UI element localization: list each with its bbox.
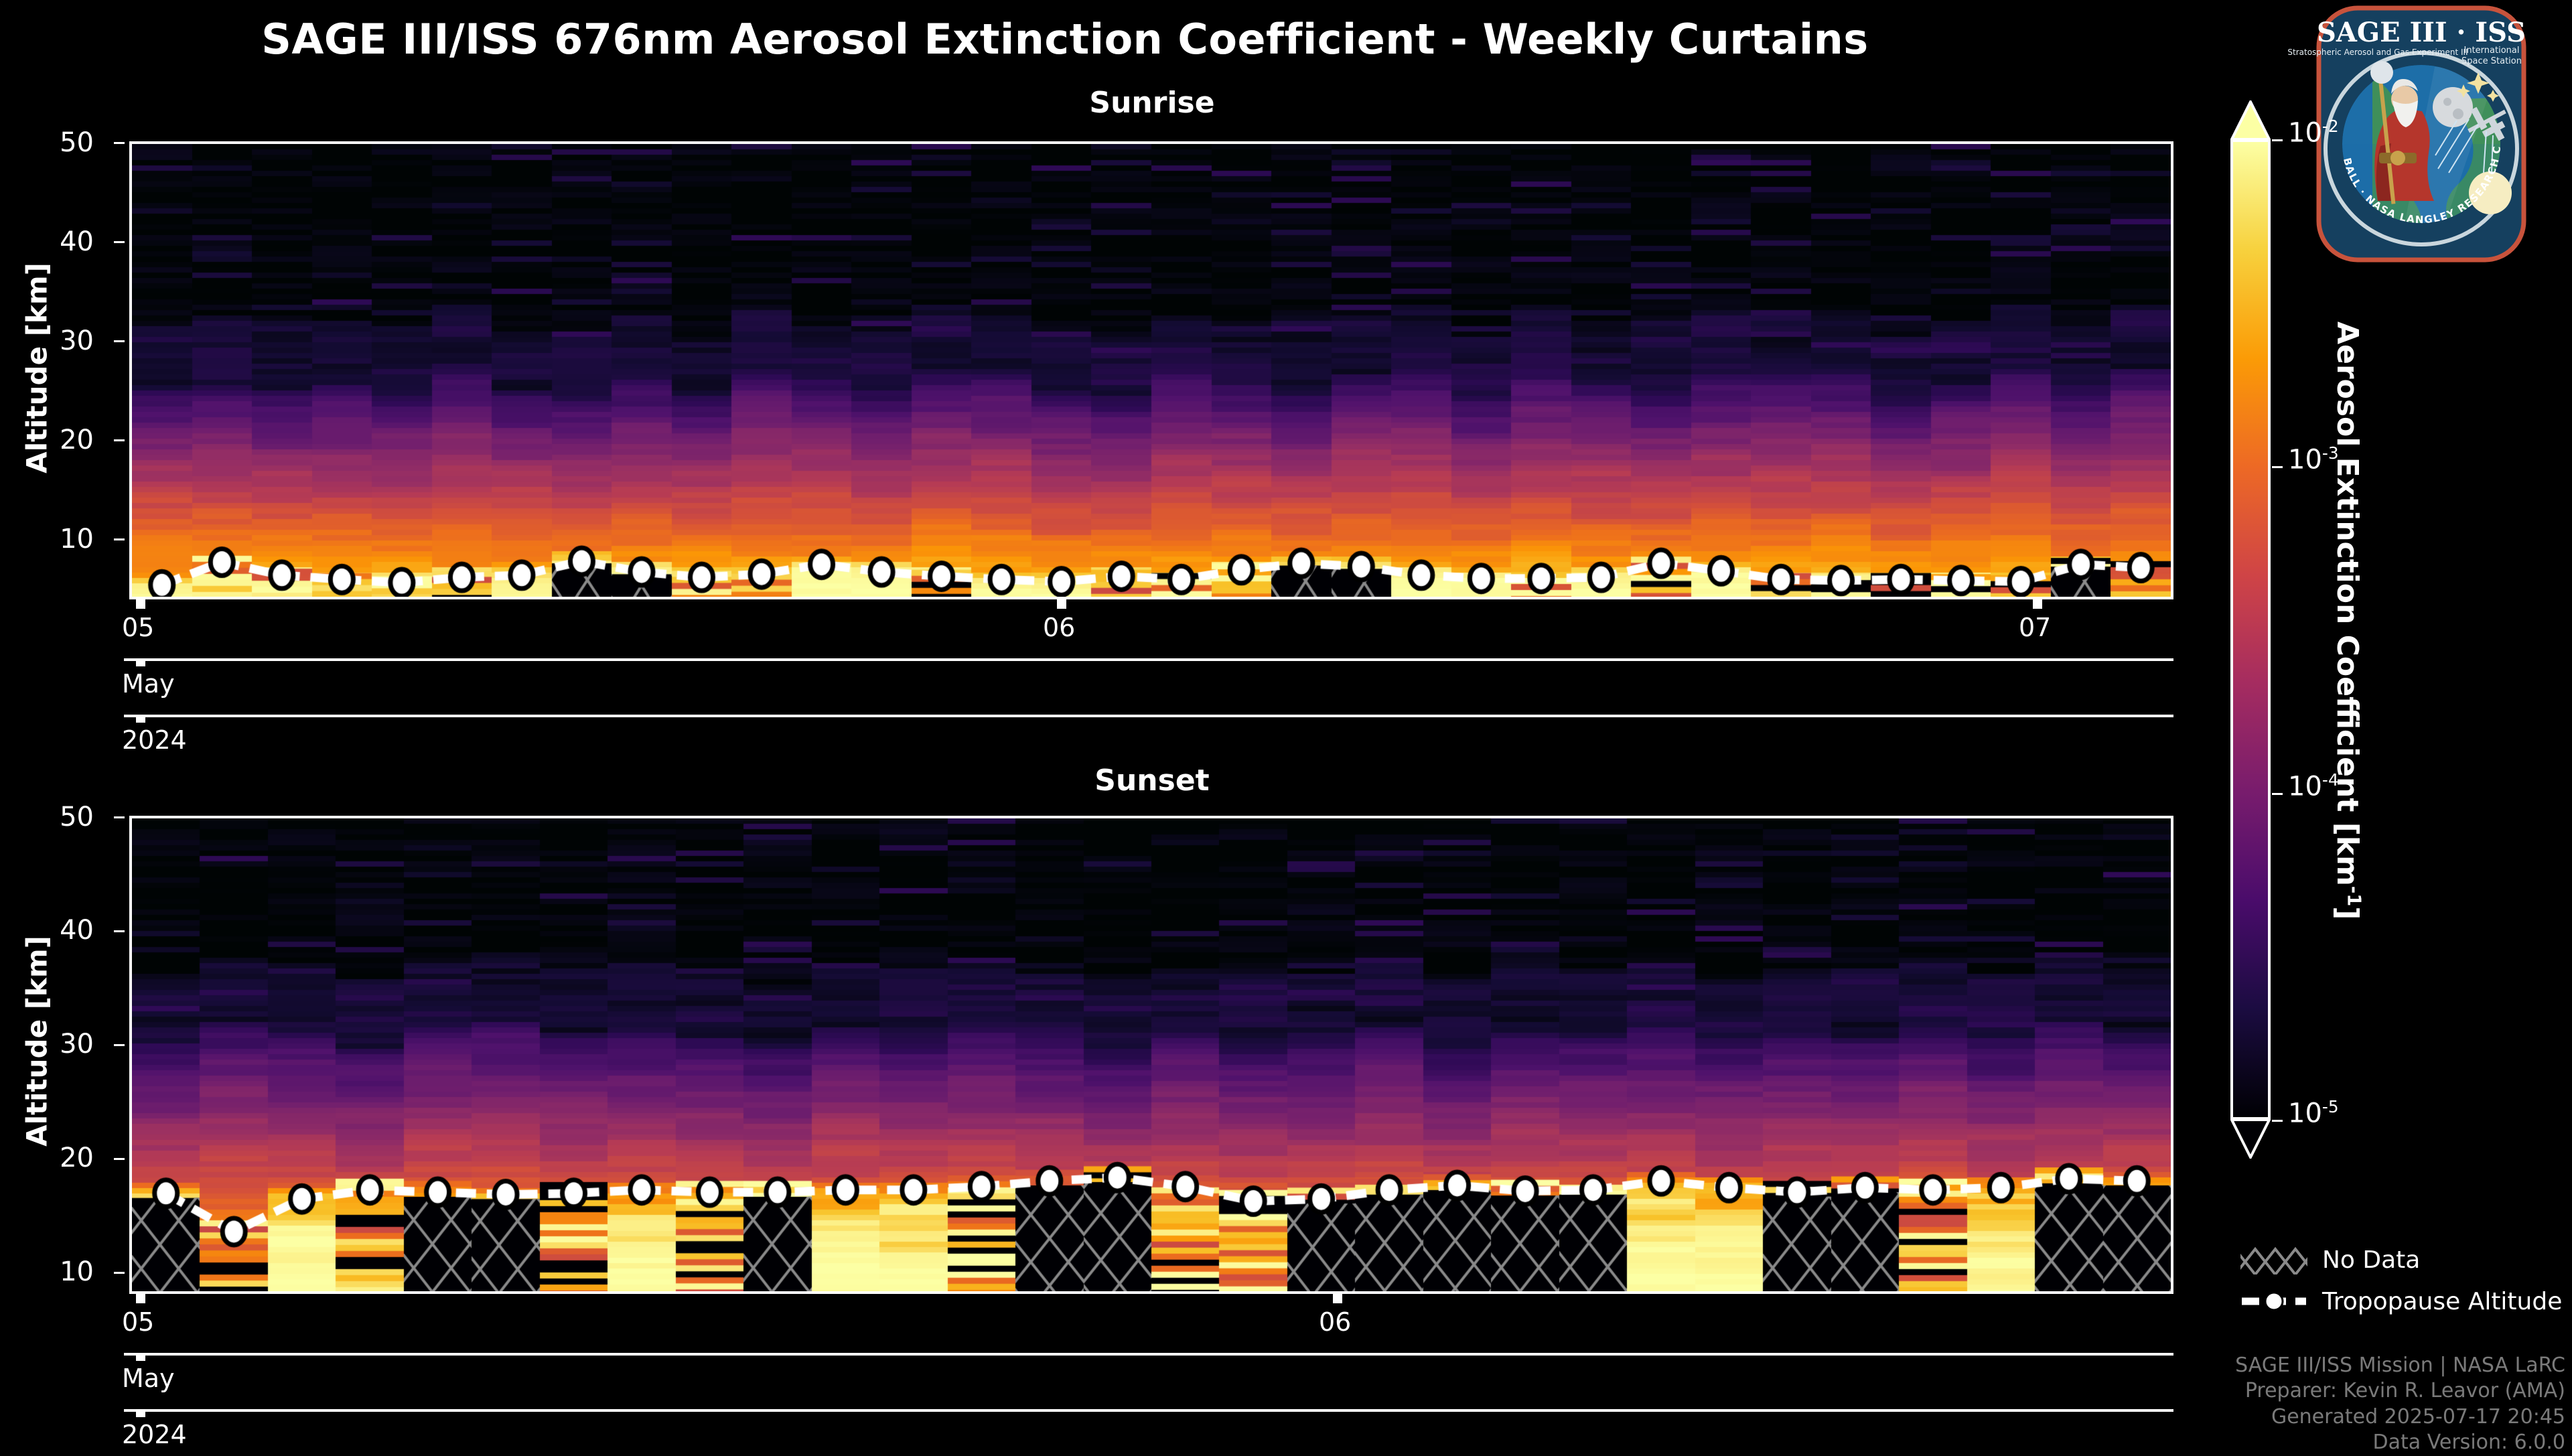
colorbar-ticklabel-1e-5: 10-5 xyxy=(2288,1097,2339,1129)
sunset-year-tick xyxy=(136,1409,145,1417)
sunset-month-rule xyxy=(124,1353,2173,1356)
sunrise-month-label: May xyxy=(122,669,175,699)
sunrise-ytickmark-20 xyxy=(114,439,125,441)
sunset-ytick-10: 10 xyxy=(13,1256,94,1287)
patch-subtitle-right-2: Space Station xyxy=(2461,56,2522,66)
sunrise-year-label: 2024 xyxy=(122,725,187,755)
colorbar-tickmark-1e-4 xyxy=(2272,793,2283,795)
legend: No Data Tropopause Altitude xyxy=(2240,1239,2562,1322)
legend-item-no-data[interactable]: No Data xyxy=(2240,1239,2562,1281)
sunset-xtick-06: 06 xyxy=(1319,1307,1351,1337)
sunrise-ytickmark-50 xyxy=(114,142,125,144)
footer-credits: SAGE III/ISS Mission | NASA LaRC Prepare… xyxy=(1942,1353,2565,1456)
footer-line-generated: Generated 2025-07-17 20:45 xyxy=(1942,1404,2565,1430)
footer-line-version: Data Version: 6.0.0 xyxy=(1942,1430,2565,1455)
sunset-ytickmark-50 xyxy=(114,816,125,818)
sunrise-xtickmark-05 xyxy=(136,599,145,609)
sunset-ytickmark-40 xyxy=(114,930,125,932)
sunset-xtick-05: 05 xyxy=(122,1307,154,1337)
sunrise-xtickmark-07 xyxy=(2033,599,2042,609)
sunrise-ytickmark-10 xyxy=(114,538,125,540)
cb-mantissa-2: 10 xyxy=(2288,771,2322,802)
sunrise-ytick-30: 30 xyxy=(13,325,94,356)
sunrise-ytickmark-30 xyxy=(114,340,125,342)
sunset-ytickmark-30 xyxy=(114,1044,125,1046)
patch-subtitle-left: Stratospheric Aerosol and Gas Experiment… xyxy=(2287,48,2468,57)
cb-label-exp: -1 xyxy=(2344,886,2364,906)
sunrise-curtain-plot[interactable] xyxy=(129,141,2173,599)
tropopause-line-swatch xyxy=(2240,1287,2307,1316)
sunset-ytick-20: 20 xyxy=(13,1143,94,1173)
cb-mantissa-3: 10 xyxy=(2288,1098,2322,1129)
legend-item-tropopause[interactable]: Tropopause Altitude xyxy=(2240,1281,2562,1322)
sunset-heatmap-canvas xyxy=(132,818,2171,1291)
cb-mantissa-1: 10 xyxy=(2288,444,2322,475)
page-title: SAGE III/ISS 676nm Aerosol Extinction Co… xyxy=(0,15,2130,64)
colorbar-axis-label: Aerosol Extinction Coefficient [km-1] xyxy=(2330,321,2364,920)
cb-label-tail: ] xyxy=(2330,906,2364,920)
footer-line-preparer: Preparer: Kevin R. Leavor (AMA) xyxy=(1942,1378,2565,1404)
colorbar-tickmark-1e-3 xyxy=(2272,466,2283,468)
sunset-xtickmark-05 xyxy=(136,1294,145,1303)
cb-exp-0: -2 xyxy=(2322,117,2339,136)
colorbar-gradient xyxy=(2230,139,2271,1120)
sunset-ytickmark-10 xyxy=(114,1272,125,1274)
cb-exp-3: -5 xyxy=(2322,1097,2339,1116)
sunrise-y-axis-label: Altitude [km] xyxy=(21,221,54,516)
colorbar-min-extend-arrow xyxy=(2230,1117,2271,1157)
sunset-ytickmark-20 xyxy=(114,1158,125,1160)
sunrise-date-axis: 05 06 07 May 2024 xyxy=(0,599,2572,760)
no-data-hatch-swatch xyxy=(2240,1245,2307,1275)
sunrise-ytick-40: 40 xyxy=(13,226,94,257)
patch-title: SAGE III · ISS xyxy=(2317,17,2526,48)
sunset-subtitle: Sunset xyxy=(127,763,2177,798)
sunrise-month-rule xyxy=(124,658,2173,661)
sunrise-xtickmark-06 xyxy=(1057,599,1066,609)
sunrise-xtick-05: 05 xyxy=(122,613,154,642)
sunrise-ytick-10: 10 xyxy=(13,524,94,555)
legend-label-tropopause: Tropopause Altitude xyxy=(2322,1288,2562,1315)
colorbar-tickmark-1e-2 xyxy=(2272,139,2283,141)
cb-mantissa-0: 10 xyxy=(2288,117,2322,148)
sunrise-xtick-07: 07 xyxy=(2019,613,2051,642)
sunset-curtain-plot[interactable] xyxy=(129,816,2173,1294)
sunrise-xtick-06: 06 xyxy=(1043,613,1075,642)
sunrise-subtitle: Sunrise xyxy=(127,86,2177,120)
sunrise-month-tick xyxy=(136,658,145,666)
sunrise-year-tick xyxy=(136,715,145,723)
sunrise-year-rule xyxy=(124,715,2173,717)
sunset-month-label: May xyxy=(122,1364,175,1393)
sunset-ytick-40: 40 xyxy=(13,915,94,946)
sunset-year-label: 2024 xyxy=(122,1420,187,1449)
footer-line-mission: SAGE III/ISS Mission | NASA LaRC xyxy=(1942,1353,2565,1378)
colorbar-tickmark-1e-5 xyxy=(2272,1120,2283,1122)
colorbar-ticklabel-1e-2: 10-2 xyxy=(2288,117,2339,148)
sunset-year-rule xyxy=(124,1409,2173,1412)
sunset-ytick-50: 50 xyxy=(13,802,94,832)
sunrise-ytick-50: 50 xyxy=(13,127,94,158)
sunrise-heatmap-canvas xyxy=(132,144,2171,597)
sunset-xtickmark-06 xyxy=(1333,1294,1342,1303)
colorbar[interactable]: 10-2 10-3 10-4 10-5 xyxy=(2230,100,2271,1159)
sunrise-ytick-20: 20 xyxy=(13,425,94,455)
sunset-ytick-30: 30 xyxy=(13,1029,94,1060)
sunrise-ytickmark-40 xyxy=(114,241,125,243)
patch-subtitle-right-1: International xyxy=(2464,46,2520,56)
sunset-month-tick xyxy=(136,1353,145,1361)
cb-label-main: Aerosol Extinction Coefficient [km xyxy=(2330,321,2364,886)
colorbar-max-extend-arrow xyxy=(2230,100,2271,141)
legend-label-no-data: No Data xyxy=(2322,1246,2420,1274)
